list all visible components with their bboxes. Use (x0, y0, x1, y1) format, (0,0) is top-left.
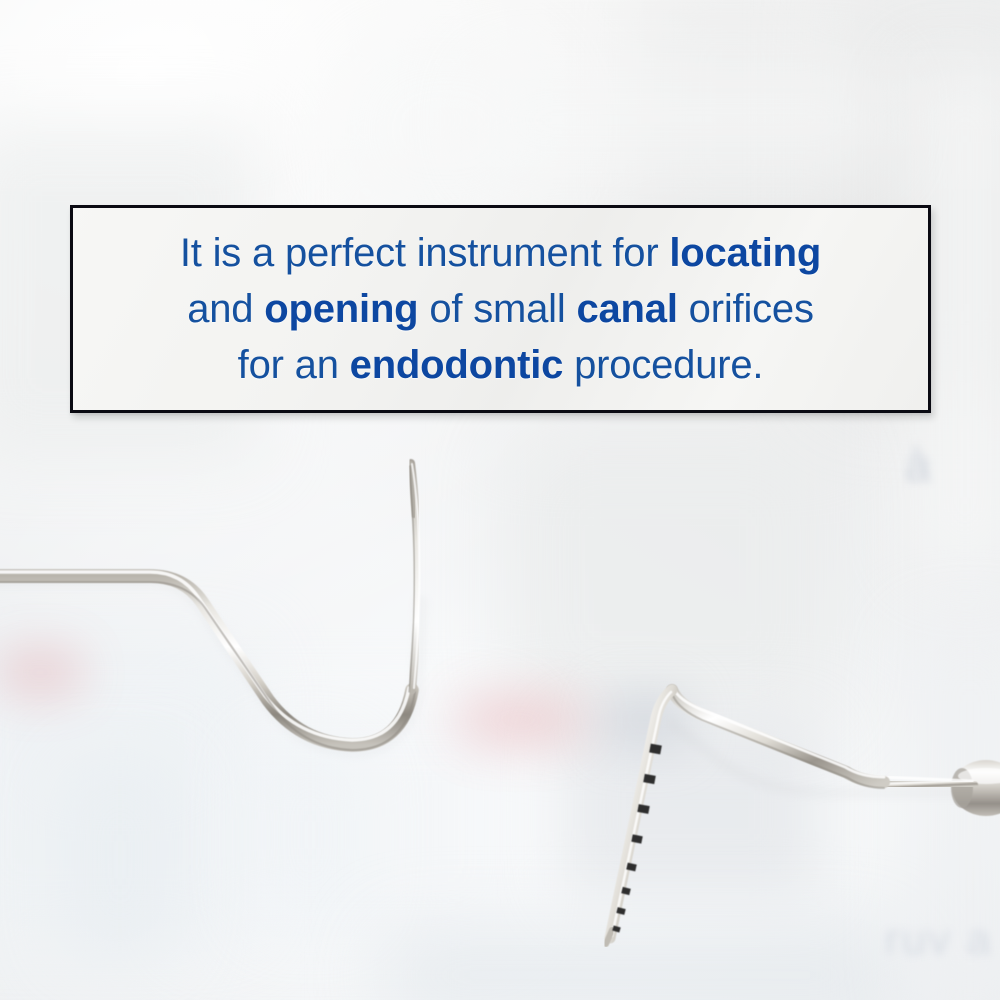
caption-text-plain: and (187, 287, 264, 331)
caption-text-bold-canal: canal (576, 287, 677, 331)
caption-text-bold-endodontic: endodontic (350, 343, 564, 387)
caption-text-plain: orifices (678, 287, 814, 331)
caption-text-bold-opening: opening (264, 287, 418, 331)
background-blurred-glyph-right: à (905, 438, 931, 492)
background-blur-shape (470, 60, 890, 180)
poster-canvas: à ruv a (0, 0, 1000, 1000)
caption-text-bold-locating: locating (669, 231, 821, 275)
clinic-background: à ruv a (0, 0, 1000, 1000)
background-blurred-glyph-bottom: ruv a (885, 915, 993, 965)
background-blur-shape (60, 760, 180, 960)
caption-line-3: for an endodontic procedure. (73, 337, 928, 393)
caption-line-1: It is a perfect instrument for locating (73, 225, 928, 281)
background-blur-shape (460, 700, 580, 740)
background-blur-shape (0, 650, 80, 695)
caption-text-plain: of small (418, 287, 576, 331)
background-blur-shape (380, 930, 900, 1000)
caption-text-plain: procedure. (563, 343, 763, 387)
background-blur-shape (600, 690, 690, 750)
caption-box: It is a perfect instrument for locating … (70, 205, 931, 413)
background-blur-shape (560, 720, 820, 900)
background-blur-shape (505, 430, 835, 720)
caption-text-plain: It is a perfect instrument for (180, 231, 670, 275)
caption-line-2: and opening of small canal orifices (73, 281, 928, 337)
caption-text-plain: for an (238, 343, 350, 387)
background-blur-shape (250, 740, 370, 930)
